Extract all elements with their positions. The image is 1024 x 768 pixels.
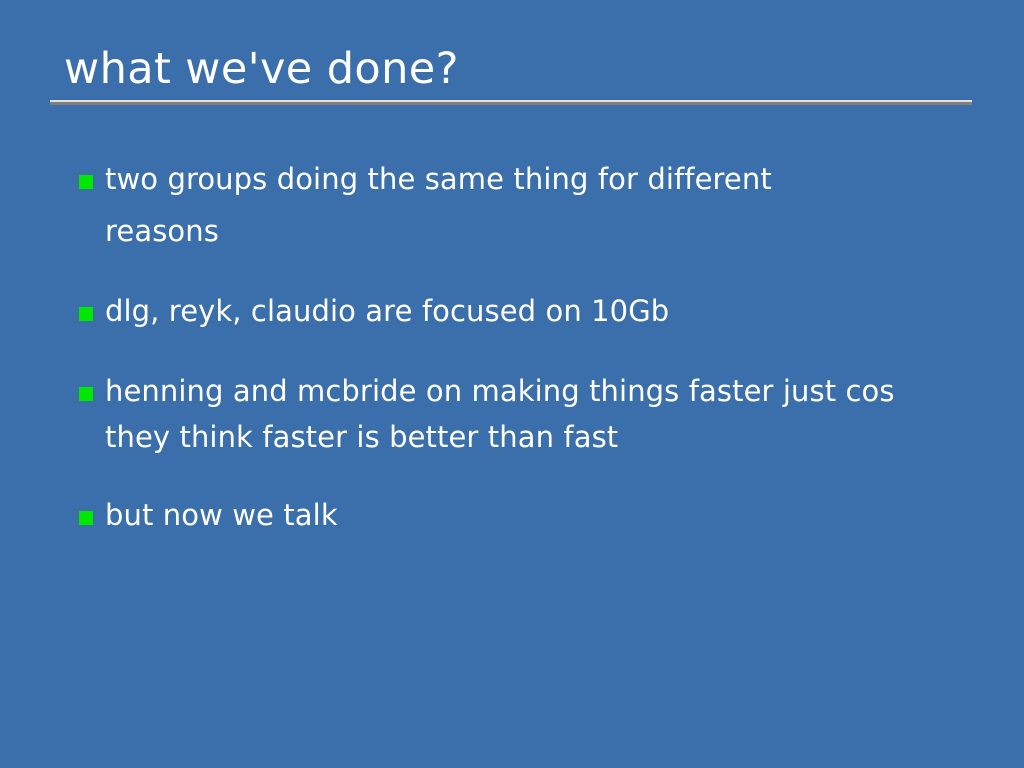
list-item-line: dlg, reyk, claudio are focused on 10Gb (105, 294, 669, 328)
list-item-line: reasons (105, 214, 772, 248)
list-item-line: two groups doing the same thing for diff… (105, 162, 772, 196)
green-square-bullet-icon (79, 175, 93, 189)
green-square-bullet-icon (79, 511, 93, 525)
list-item-text: henning and mcbride on making things fas… (105, 374, 895, 454)
title-block: what we've done? (50, 44, 974, 105)
list-item-text: dlg, reyk, claudio are focused on 10Gb (105, 294, 669, 328)
list-item-line: henning and mcbride on making things fas… (105, 374, 895, 408)
presentation-slide: what we've done? two groups doing the sa… (0, 0, 1024, 768)
list-item-text: but now we talk (105, 498, 338, 532)
list-item: henning and mcbride on making things fas… (79, 374, 979, 454)
list-item-line: but now we talk (105, 498, 338, 532)
list-item-text: two groups doing the same thing for diff… (105, 162, 772, 248)
list-item: dlg, reyk, claudio are focused on 10Gb (79, 294, 979, 328)
list-item-line: they think faster is better than fast (105, 420, 895, 454)
green-square-bullet-icon (79, 387, 93, 401)
list-item: but now we talk (79, 498, 979, 532)
bullet-list: two groups doing the same thing for diff… (79, 162, 979, 532)
list-item: two groups doing the same thing for diff… (79, 162, 979, 248)
green-square-bullet-icon (79, 307, 93, 321)
title-underline-rule (50, 100, 972, 105)
page-title: what we've done? (50, 44, 974, 94)
